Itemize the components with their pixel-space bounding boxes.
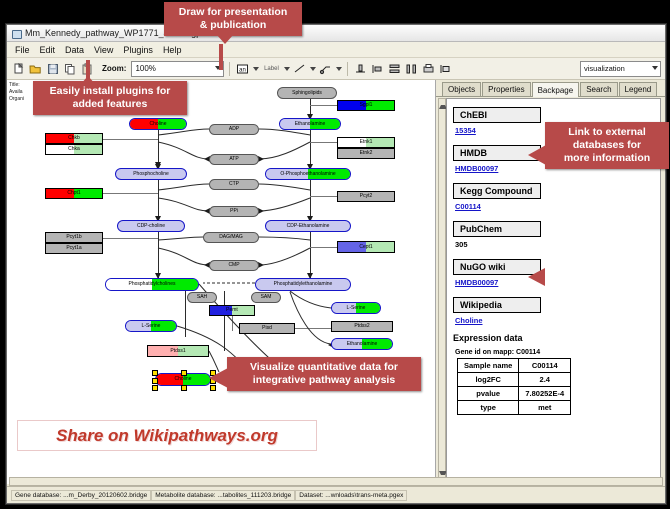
node-label: ATP [229,157,238,162]
pathway-node-cmp[interactable]: CMP [209,260,259,271]
pathway-node-cdp-ethanolamine[interactable]: CDP-Ethanolamine [265,220,351,232]
pathway-title-block: Title: Availa Organi [9,82,24,103]
callout-links-line1: Link to external [552,126,662,139]
callout-draw: Draw for presentation & publication [164,2,302,36]
pathway-gene-etnk2[interactable]: Etnk2 [337,148,395,159]
availability-label: Availa [9,89,24,96]
backpage-link-kegg[interactable]: C00114 [455,202,660,211]
gene-label: Etnk1 [360,140,373,145]
menu-data[interactable]: Data [60,44,89,56]
pathway-gene-ptdss2[interactable]: Ptdss2 [331,321,393,332]
callout-plugins-stem [86,60,90,80]
edge-sgpl1-to-line [310,105,337,106]
chevron-down-icon[interactable] [652,66,658,70]
organism-label: Organi [9,96,24,103]
pathway-node-l-serine-left[interactable]: L-Serine [125,320,177,332]
backpage-header-kegg: Kegg Compound [453,183,541,199]
pathway-gene-pcyt1b[interactable]: Pcyt1b [45,232,103,243]
pathvisio-window: Mm_Kennedy_pathway_WP1771_45176.gpml Fil… [6,24,666,504]
tab-backpage[interactable]: Backpage [532,82,580,97]
callout-visualize: Visualize quantitative data for integrat… [227,357,421,391]
node-label: CMP [228,263,239,268]
zoom-input[interactable]: 100% [131,61,224,77]
backpage-header-chebi: ChEBI [453,107,541,123]
callout-expression-arrow [528,268,545,286]
gene-label: Etnk2 [360,151,373,156]
menu-plugins[interactable]: Plugins [118,44,158,56]
open-icon[interactable] [28,61,43,76]
pathway-node-ethanolamine-bottom[interactable]: Ethanolamine [331,338,393,350]
expr-value: 7.80252E-4 [519,387,571,401]
edge-ptdcholine-up [185,291,186,337]
menu-file[interactable]: File [10,44,35,56]
node-label: PPi [230,209,238,214]
pathway-gene-ptdss1[interactable]: Ptdss1 [147,345,209,357]
datanode-icon[interactable]: an [235,61,250,76]
node-label: Sphingolipids [292,91,322,96]
expr-key: pvalue [458,387,519,401]
visualization-select[interactable]: visualization [580,61,661,77]
svg-text:an: an [240,67,247,73]
callout-visualize-arrow [209,368,228,388]
edge-phosphocholine-cdpcholine [158,180,159,220]
gene-label: Chka [68,147,80,152]
callout-draw-line2: & publication [171,19,295,32]
pathway-node-phosphatidylethanolamine[interactable]: Phosphatidylethanolamine [255,278,351,291]
gene-label: Ptdss1 [170,349,185,354]
node-label: O-Phosphoethanolamine [280,172,335,177]
align-left-icon[interactable] [370,61,385,76]
node-label: Phosphatidylethanolamine [274,282,333,287]
chevron-down-icon[interactable] [253,67,259,71]
pathway-node-phosphatidylcholines[interactable]: Phosphatidylcholines [105,278,199,291]
side-panel-scrollbar[interactable] [438,98,446,482]
horizontal-scrollbar[interactable] [9,477,663,486]
callout-visualize-line2: integrative pathway analysis [234,374,414,387]
same-width-icon[interactable] [404,61,419,76]
gene-label: Pcyt2 [360,194,373,199]
order-icon[interactable] [438,61,453,76]
menu-edit[interactable]: Edit [35,44,61,56]
new-icon[interactable] [11,61,26,76]
pathway-node-adp[interactable]: ADP [209,124,259,135]
node-label: Phosphocholine [133,172,169,177]
callout-draw-stem [219,44,223,70]
callout-links-arrow [528,145,546,165]
pathway-gene-cept1[interactable]: Cept1 [337,241,395,253]
edge-cdpcholine-ptdcholine [158,232,159,278]
visualization-value: visualization [584,64,625,73]
backpage-value-pubchem: 305 [455,240,660,249]
selection-handle[interactable] [152,385,158,391]
save-icon[interactable] [45,61,60,76]
print-icon[interactable] [421,61,436,76]
expr-value: C00114 [519,359,571,373]
gene-label: Pcyt1a [66,246,81,251]
pathvisio-icon [11,28,21,38]
toolbar-divider [347,62,348,76]
node-label: Choline [150,122,167,127]
edge-pcyt2-to-line [310,196,337,197]
expr-key: type [458,401,519,415]
pathway-node-ctp[interactable]: CTP [209,179,259,190]
tab-objects[interactable]: Objects [442,82,481,96]
edge-cdpetn-ptdetn [310,232,311,278]
table-row: pvalue7.80252E-4 [458,387,571,401]
node-label: Ethanolamine [347,342,378,347]
distribute-vertical-icon[interactable] [387,61,402,76]
edge-ethanolamine-ophospho [310,130,311,168]
pathway-gene-chka[interactable]: Chka [45,144,103,155]
edge-etnk-to-line [310,142,337,143]
table-row: Sample nameC00114 [458,359,571,373]
edge-chk-to-line [103,139,158,140]
pathway-gene-etnk1[interactable]: Etnk1 [337,137,395,148]
pathway-node-phosphocholine[interactable]: Phosphocholine [115,168,187,180]
pathway-node-sphingolipids[interactable]: Sphingolipids [277,87,337,99]
callout-plugins-line2: added features [40,98,180,111]
expression-table: Sample nameC00114log2FC2.4pvalue7.80252E… [457,358,571,415]
pathway-node-l-serine-right[interactable]: L-Serine [331,302,381,314]
toolbar: Zoom: 100% an Label [7,58,665,80]
pathway-gene-pemt[interactable]: Pemt [209,305,255,316]
pathway-gene-sgpl1[interactable]: Sgpl1 [337,100,395,111]
gene-label: Sgpl1 [360,103,373,108]
pathway-node-sam-right[interactable]: SAM [251,292,281,303]
backpage-link-nugo[interactable]: HMDB00097 [455,278,660,287]
edge-choline-phosphocholine [158,130,159,168]
tab-properties[interactable]: Properties [482,82,530,96]
gene-label: Ptdss2 [354,324,369,329]
expression-data-header: Expression data [453,333,660,343]
label-icon[interactable]: Label [261,61,281,76]
menubar: File Edit Data View Plugins Help [7,42,665,58]
callout-links: Link to external databases for more info… [545,122,669,169]
pathway-node-sah-left[interactable]: SAH [187,292,217,303]
expr-value: met [519,401,571,415]
node-label: SAM [261,295,272,300]
chevron-down-icon[interactable] [284,67,290,71]
node-label: CDP-Ethanolamine [287,224,330,229]
edge-chpt1-to-line [103,193,158,194]
copy-icon[interactable] [62,61,77,76]
backpage-header-wikipedia: Wikipedia [453,297,541,313]
callout-plugins-line1: Easily install plugins for [40,85,180,98]
node-label: Ethanolamine [295,122,326,127]
callout-share: Share on Wikipathways.org [17,420,317,451]
menu-help[interactable]: Help [158,44,187,56]
node-label: ADP [229,127,239,132]
backpage-link-wikipedia[interactable]: Choline [455,316,660,325]
selection-handle[interactable] [181,370,187,376]
node-label: L-Serine [347,306,366,311]
expr-key: log2FC [458,373,519,387]
pathway-canvas[interactable]: Title: Availa Organi [7,80,436,484]
chevron-down-icon[interactable] [310,67,316,71]
node-label: SAH [197,295,207,300]
edge-ophospho-cdpethanolamine [310,180,311,220]
callout-draw-pointer [216,34,234,44]
callout-links-line3: more information [552,152,662,165]
menu-view[interactable]: View [89,44,118,56]
gene-id-line: Gene id on mapp: C00114 [455,349,660,356]
table-row: log2FC2.4 [458,373,571,387]
status-gene-database: Gene database: ...m_Derby_20120602.bridg… [11,490,151,501]
callout-visualize-line1: Visualize quantitative data for [234,361,414,374]
backpage-header-pubchem: PubChem [453,221,541,237]
chevron-down-icon[interactable] [336,67,342,71]
callout-links-line2: databases for [552,139,662,152]
edge-sphingo-ethanolamine [310,99,311,118]
table-row: typemet [458,401,571,415]
pathway-gene-pcyt1a[interactable]: Pcyt1a [45,243,103,254]
pathway-node-atp[interactable]: ATP [209,154,259,165]
pathway-gene-pisd[interactable]: Pisd [239,323,295,334]
pathway-node-o-phosphoethanolamine[interactable]: O-Phosphoethanolamine [265,168,351,180]
pathway-node-choline-top[interactable]: Choline [129,118,187,130]
gene-label: Pcyt1b [66,235,81,240]
expr-value: 2.4 [519,373,571,387]
edge-pcyt1-to-line [103,238,158,239]
selection-handle[interactable] [152,378,158,384]
edge-ptdetn-down [224,291,225,351]
status-dataset: Dataset: ...wnloads\trans-meta.pgex [295,490,407,501]
callout-plugins: Easily install plugins for added feature… [33,81,187,115]
tab-search[interactable]: Search [580,82,617,96]
gene-label: Pemt [226,308,238,313]
window-titlebar: Mm_Kennedy_pathway_WP1771_45176.gpml [7,25,665,42]
gene-label: Cept1 [359,245,372,250]
zoom-label: Zoom: [102,64,126,73]
tab-legend[interactable]: Legend [619,82,658,96]
edge-pisd-to-line [295,328,331,329]
gene-label: Chpt1 [67,191,80,196]
title-label: Title: [9,82,24,89]
gene-label: Chkb [68,136,80,141]
statusbar: Gene database: ...m_Derby_20120602.bridg… [7,486,665,503]
pathway-node-ppi[interactable]: PPi [209,206,259,217]
side-panel-tabs: Objects Properties Backpage Search Legen… [436,80,665,97]
pathway-gene-pcyt2[interactable]: Pcyt2 [337,191,395,202]
node-label: Choline [175,377,192,382]
callout-draw-line1: Draw for presentation [171,6,295,19]
node-label: CTP [229,182,239,187]
status-metabolite-database: Metabolite database: ...tabolites_111203… [151,490,295,501]
selection-handle[interactable] [152,370,158,376]
zoom-value: 100% [135,64,155,73]
callout-share-text: Share on Wikipathways.org [56,426,278,445]
node-label: DAG/MAG [219,235,243,240]
align-top-icon[interactable] [353,61,368,76]
node-label: CDP-choline [137,224,165,229]
edge-cept1-to-line [310,247,337,248]
anchor-icon[interactable] [318,61,333,76]
pathway-gene-chkb[interactable]: Chkb [45,133,103,144]
pathway-node-cdp-choline[interactable]: CDP-choline [117,220,185,232]
expr-key: Sample name [458,359,519,373]
pathway-node-dagmag[interactable]: DAG/MAG [203,232,259,243]
pathway-node-ethanolamine-top[interactable]: Ethanolamine [279,118,341,130]
gene-label: Pisd [262,326,272,331]
pathway-gene-chpt1[interactable]: Chpt1 [45,188,103,199]
toolbar-divider [229,62,230,76]
node-label: Phosphatidylcholines [129,282,176,287]
node-label: L-Serine [142,324,161,329]
line-icon[interactable] [292,61,307,76]
selection-handle[interactable] [181,385,187,391]
